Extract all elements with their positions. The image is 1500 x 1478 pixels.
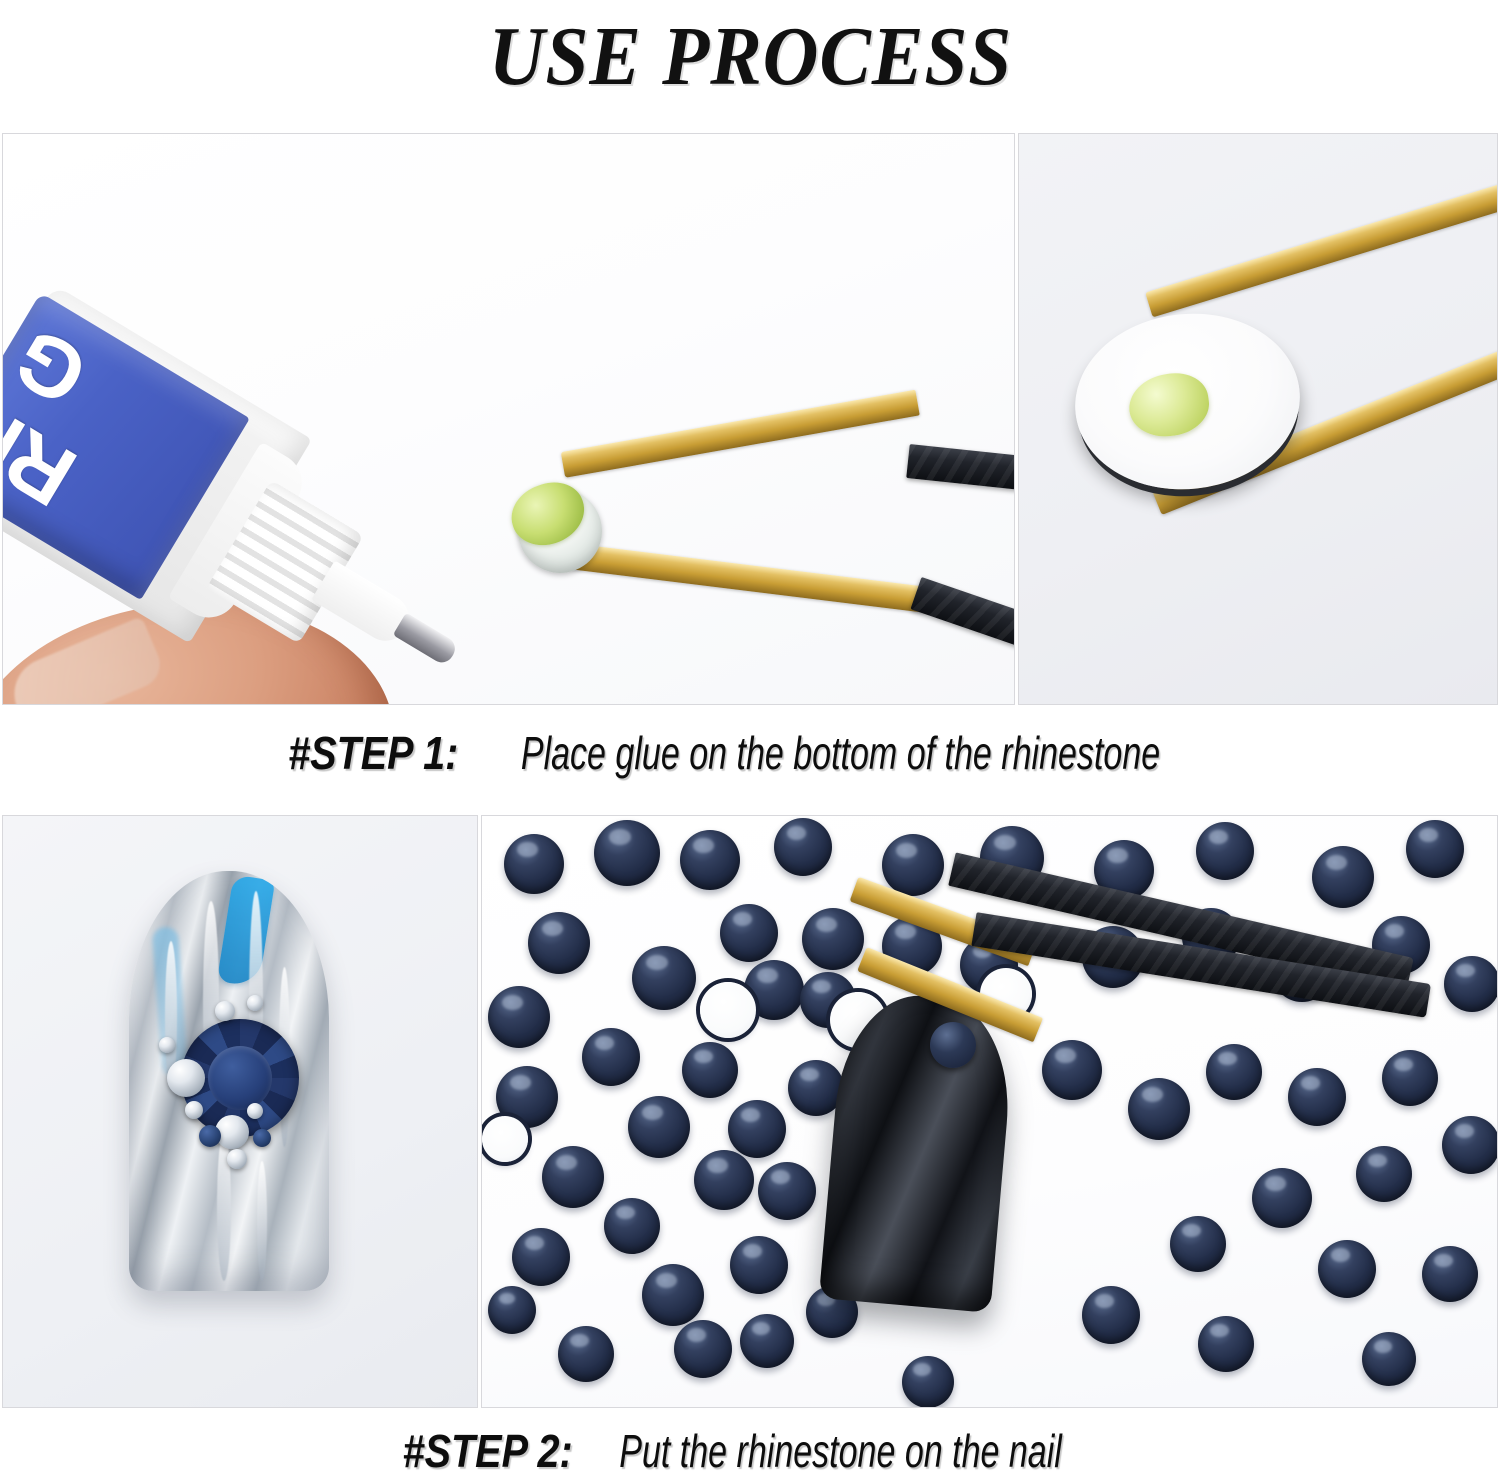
silver-bead bbox=[247, 1103, 263, 1119]
rhinestone bbox=[1042, 1040, 1102, 1100]
panel-stone-placement bbox=[481, 815, 1498, 1408]
rhinestone bbox=[728, 1100, 786, 1158]
rhinestone bbox=[740, 1314, 794, 1368]
step-2-text: Put the rhinestone on the nail bbox=[619, 1424, 1062, 1478]
silver-bead bbox=[215, 1001, 235, 1021]
rhinestone bbox=[1406, 820, 1464, 878]
silver-bead bbox=[159, 1037, 175, 1053]
step-2-caption: #STEP 2: Put the rhinestone on the nail bbox=[0, 1424, 1500, 1478]
rhinestone-flipped bbox=[700, 982, 756, 1038]
blue-bead bbox=[199, 1125, 221, 1147]
rhinestone bbox=[1170, 1216, 1226, 1272]
rhinestone bbox=[1422, 1246, 1478, 1302]
silver-bead bbox=[167, 1059, 205, 1097]
rhinestone bbox=[1356, 1146, 1412, 1202]
rhinestone bbox=[674, 1320, 732, 1378]
rhinestone bbox=[1252, 1168, 1312, 1228]
blue-accent-stripe bbox=[217, 874, 275, 987]
rhinestone bbox=[882, 834, 944, 896]
page-header: USE PROCESS bbox=[0, 0, 1500, 112]
rhinestone bbox=[488, 986, 550, 1048]
rhinestone bbox=[1288, 1068, 1346, 1126]
blue-bead bbox=[253, 1129, 271, 1147]
rhinestone bbox=[720, 904, 778, 962]
rhinestone bbox=[1442, 1116, 1498, 1174]
rhinestone bbox=[730, 1236, 788, 1294]
rhinestone bbox=[558, 1326, 614, 1382]
rhinestone bbox=[1382, 1050, 1438, 1106]
panel-glued-stone-closeup bbox=[1018, 133, 1498, 705]
rhinestone bbox=[1362, 1332, 1416, 1386]
rhinestone bbox=[628, 1096, 690, 1158]
silver-bead bbox=[247, 995, 263, 1011]
step-1-text: Place glue on the bottom of the rhinesto… bbox=[521, 726, 1160, 780]
panel-glue-application: G Rh bbox=[2, 133, 1015, 705]
rhinestone bbox=[542, 1146, 604, 1208]
rhinestone-being-placed bbox=[930, 1022, 976, 1068]
rhinestone bbox=[1206, 1044, 1262, 1100]
rhinestone bbox=[774, 818, 832, 876]
rhinestone bbox=[1082, 1286, 1140, 1344]
rhinestone bbox=[1312, 846, 1374, 908]
rhinestone bbox=[902, 1356, 954, 1408]
rhinestone bbox=[682, 1042, 738, 1098]
rhinestone bbox=[1128, 1078, 1190, 1140]
rhinestone bbox=[694, 1150, 754, 1210]
step-1-caption: #STEP 1: Place glue on the bottom of the… bbox=[0, 726, 1500, 780]
step-1-label: #STEP 1: bbox=[288, 727, 458, 779]
rhinestone bbox=[1444, 956, 1498, 1012]
rhinestone bbox=[512, 1228, 570, 1286]
rhinestone bbox=[758, 1162, 816, 1220]
rhinestone bbox=[1198, 1316, 1254, 1372]
rhinestone bbox=[582, 1028, 640, 1086]
page-title: USE PROCESS bbox=[488, 8, 1011, 105]
rhinestone bbox=[504, 834, 564, 894]
step-2-label: #STEP 2: bbox=[402, 1425, 572, 1477]
panel-finished-nail bbox=[2, 815, 478, 1408]
decorated-nail bbox=[129, 871, 329, 1291]
rhinestone bbox=[632, 946, 696, 1010]
rhinestone bbox=[1196, 822, 1254, 880]
rhinestone bbox=[604, 1198, 660, 1254]
silver-bead bbox=[227, 1149, 247, 1169]
rhinestone bbox=[642, 1264, 704, 1326]
rhinestone-flipped bbox=[482, 1116, 528, 1162]
silver-bead bbox=[185, 1101, 203, 1119]
rhinestone bbox=[528, 912, 590, 974]
rhinestone bbox=[594, 820, 660, 886]
rhinestone bbox=[802, 908, 864, 970]
rhinestone bbox=[488, 1286, 536, 1334]
chrome-drip bbox=[257, 1161, 267, 1281]
rhinestone bbox=[1318, 1240, 1376, 1298]
rhinestone bbox=[680, 830, 740, 890]
